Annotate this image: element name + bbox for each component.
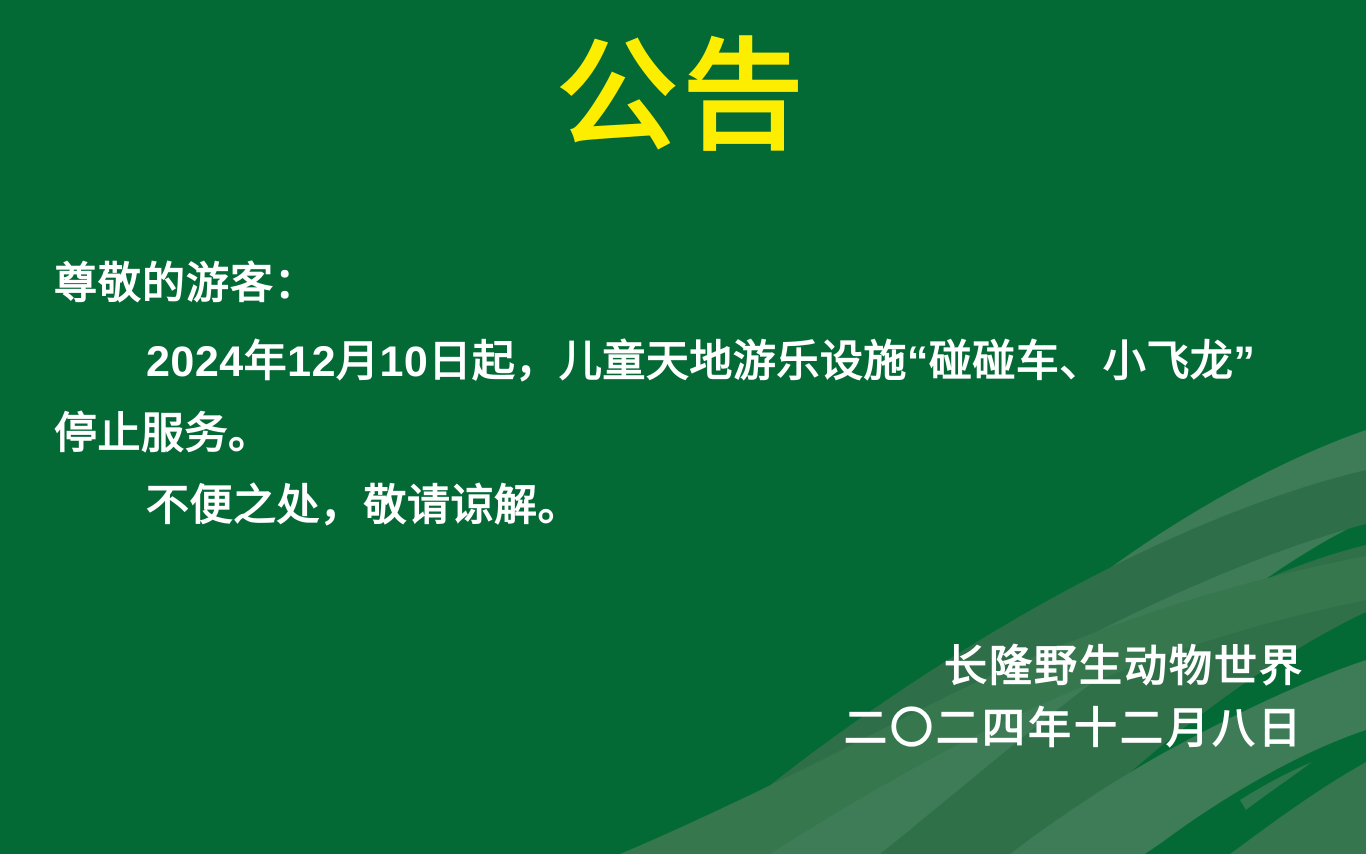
page-title: 公告 xyxy=(557,34,809,160)
wave-streak-2 xyxy=(1240,762,1312,810)
signature-organization: 长隆野生动物世界 xyxy=(0,636,1304,698)
body-salutation: 尊敬的游客： xyxy=(54,248,1312,320)
body-paragraph-1-line-1: 2024年12月10日起，儿童天地游乐设施“碰碰车、小飞龙” xyxy=(54,326,1312,398)
poster-title-row: 公告 xyxy=(0,34,1366,160)
wave-band-4 xyxy=(1230,762,1366,854)
notice-body: 尊敬的游客： 2024年12月10日起，儿童天地游乐设施“碰碰车、小飞龙” 停止… xyxy=(54,248,1312,542)
body-paragraph-1-line-2: 停止服务。 xyxy=(54,398,1312,470)
body-paragraph-2: 不便之处，敬请谅解。 xyxy=(54,470,1312,542)
wave-streak-1 xyxy=(1152,800,1204,838)
signature-date: 二〇二四年十二月八日 xyxy=(0,698,1304,760)
notice-signature: 长隆野生动物世界 二〇二四年十二月八日 xyxy=(0,636,1366,760)
notice-poster: 公告 尊敬的游客： 2024年12月10日起，儿童天地游乐设施“碰碰车、小飞龙”… xyxy=(0,0,1366,854)
